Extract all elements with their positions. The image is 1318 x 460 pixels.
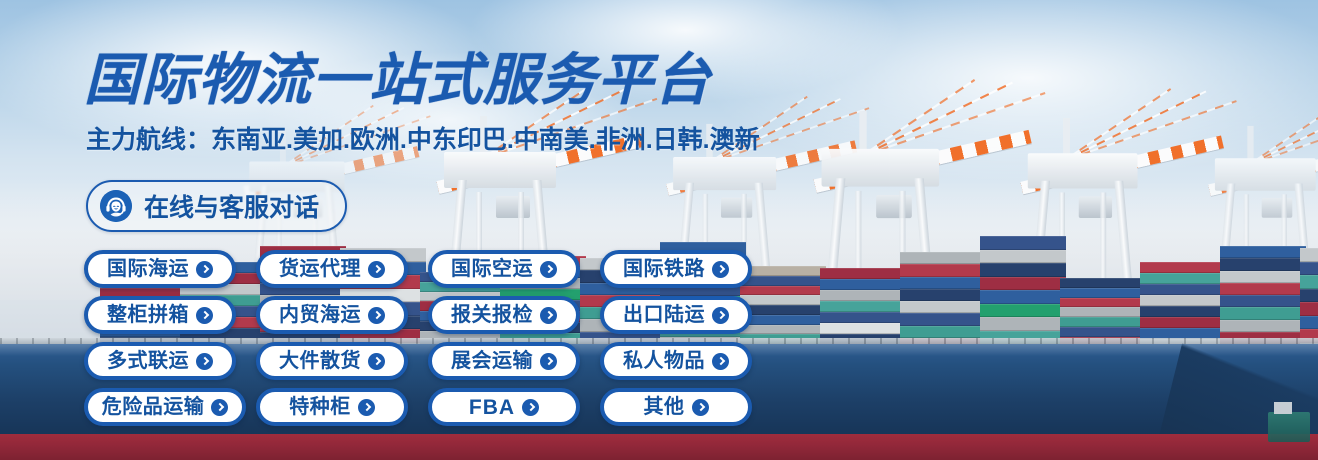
online-chat-button[interactable]: 在线与客服对话 (86, 180, 347, 232)
logistics-hero-banner: 国际物流一站式服务平台 主力航线：东南亚.美加.欧洲.中东印巴.中南美.非洲.日… (0, 0, 1318, 460)
service-button[interactable]: 国际空运 (428, 250, 580, 288)
banner-subtitle: 主力航线：东南亚.美加.欧洲.中东印巴.中南美.非洲.日韩.澳新 (86, 128, 760, 153)
banner-title: 国际物流一站式服务平台 (84, 52, 711, 108)
arrow-right-circle-icon (358, 399, 375, 416)
arrow-right-circle-icon (196, 261, 213, 278)
arrow-right-circle-icon (211, 399, 228, 416)
arrow-right-circle-icon (540, 353, 557, 370)
service-button-label: 货运代理 (279, 259, 361, 279)
service-button-label: 展会运输 (451, 351, 533, 371)
arrow-right-circle-icon (522, 399, 539, 416)
arrow-right-circle-icon (540, 307, 557, 324)
service-button[interactable]: 特种柜 (256, 388, 408, 426)
service-button-label: 其他 (644, 397, 685, 417)
service-button-label: 整柜拼箱 (107, 305, 189, 325)
service-button[interactable]: 出口陆运 (600, 296, 752, 334)
arrow-right-circle-icon (368, 353, 385, 370)
service-button-label: 内贸海运 (279, 305, 361, 325)
service-button-label: 出口陆运 (623, 305, 705, 325)
service-button[interactable]: 整柜拼箱 (84, 296, 236, 334)
service-button-label: 国际空运 (451, 259, 533, 279)
service-button[interactable]: 危险品运输 (84, 388, 246, 426)
service-button-label: 特种柜 (289, 397, 351, 417)
service-button-label: 报关报检 (451, 305, 533, 325)
service-button[interactable]: FBA (428, 388, 580, 426)
arrow-right-circle-icon (196, 307, 213, 324)
arrow-right-circle-icon (692, 399, 709, 416)
online-chat-label: 在线与客服对话 (144, 188, 319, 224)
service-button-label: 国际铁路 (623, 259, 705, 279)
service-button-label: 私人物品 (623, 351, 705, 371)
service-button-label: 大件散货 (279, 351, 361, 371)
service-button-grid: 国际海运货运代理国际空运国际铁路整柜拼箱内贸海运报关报检出口陆运多式联运大件散货… (84, 250, 772, 426)
service-button[interactable]: 国际铁路 (600, 250, 752, 288)
service-button[interactable]: 大件散货 (256, 342, 408, 380)
service-button[interactable]: 内贸海运 (256, 296, 408, 334)
service-button-label: 多式联运 (107, 351, 189, 371)
service-button[interactable]: 多式联运 (84, 342, 236, 380)
arrow-right-circle-icon (196, 353, 213, 370)
service-button[interactable]: 国际海运 (84, 250, 236, 288)
service-button-label: 国际海运 (107, 259, 189, 279)
customer-service-headset-icon (100, 190, 132, 222)
arrow-right-circle-icon (368, 307, 385, 324)
service-button[interactable]: 展会运输 (428, 342, 580, 380)
arrow-right-circle-icon (712, 261, 729, 278)
arrow-right-circle-icon (368, 261, 385, 278)
service-button[interactable]: 报关报检 (428, 296, 580, 334)
arrow-right-circle-icon (540, 261, 557, 278)
arrow-right-circle-icon (712, 353, 729, 370)
banner-content: 国际物流一站式服务平台 主力航线：东南亚.美加.欧洲.中东印巴.中南美.非洲.日… (0, 0, 1318, 460)
service-button-label: 危险品运输 (102, 397, 205, 417)
service-button-label: FBA (469, 397, 515, 418)
service-button[interactable]: 其他 (600, 388, 752, 426)
service-button[interactable]: 货运代理 (256, 250, 408, 288)
arrow-right-circle-icon (712, 307, 729, 324)
service-button[interactable]: 私人物品 (600, 342, 752, 380)
